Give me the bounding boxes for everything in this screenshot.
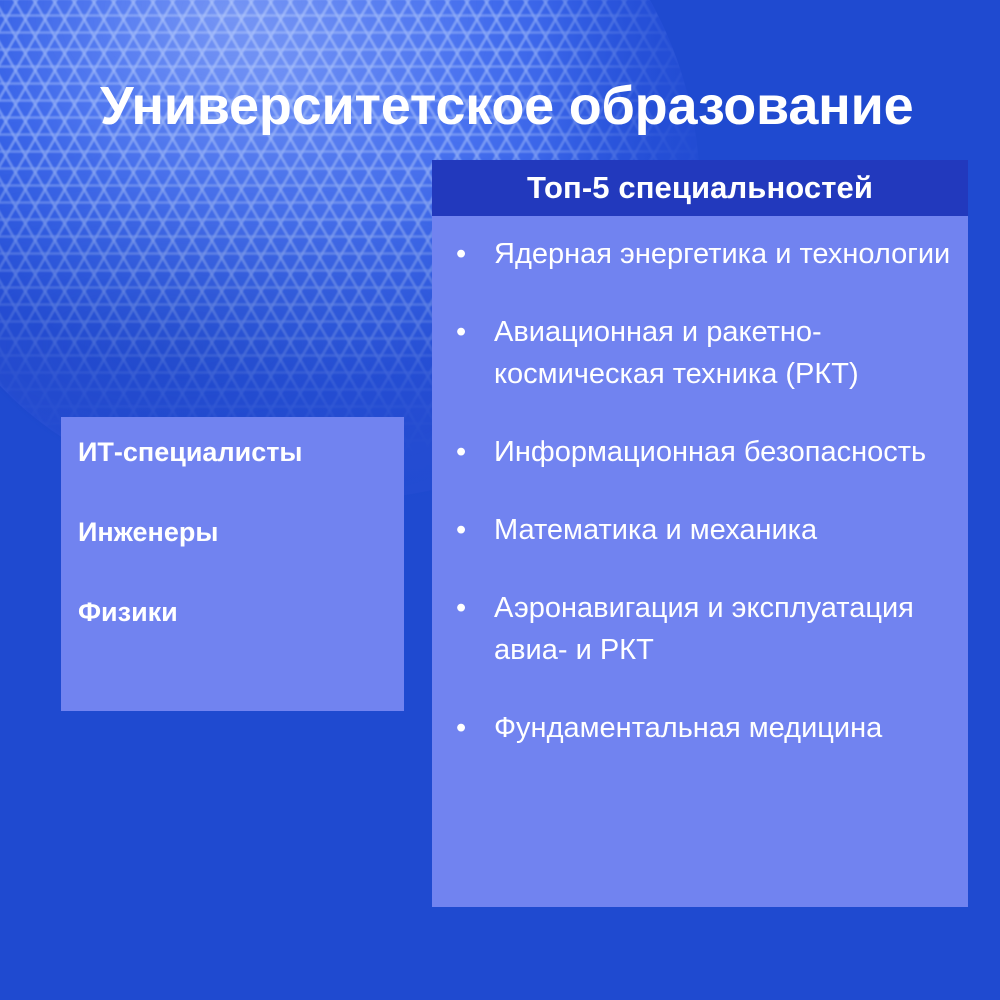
bullet-icon: • [454, 509, 494, 551]
list-item-label: Авиационная и ракетно-космическая техник… [494, 311, 954, 395]
list-item: • Фундаментальная медицина [454, 707, 954, 749]
list-item: • Информационная безопасность [454, 431, 954, 473]
list-item-label: Математика и механика [494, 509, 954, 551]
bullet-icon: • [454, 587, 494, 629]
page-title: Университетское образование [100, 78, 920, 135]
left-panel-item-it-specialists: ИТ-специалисты [78, 436, 384, 470]
list-item: • Аэронавигация и эксплуатация авиа- и Р… [454, 587, 954, 671]
left-roles-panel: ИТ-специалисты Инженеры Физики [61, 417, 404, 711]
left-panel-item-physicists: Физики [78, 596, 384, 630]
bullet-icon: • [454, 311, 494, 353]
list-item-label: Аэронавигация и эксплуатация авиа- и РКТ [494, 587, 954, 671]
left-panel-item-engineers: Инженеры [78, 516, 384, 550]
top-specialties-list: • Ядерная энергетика и технологии • Авиа… [432, 216, 968, 907]
top-specialties-panel: Топ-5 специальностей • Ядерная энергетик… [432, 160, 968, 907]
list-item-label: Ядерная энергетика и технологии [494, 233, 954, 275]
bullet-icon: • [454, 233, 494, 275]
bullet-icon: • [454, 707, 494, 749]
bullet-icon: • [454, 431, 494, 473]
list-item: • Математика и механика [454, 509, 954, 551]
list-item-label: Информационная безопасность [494, 431, 954, 473]
list-item: • Авиационная и ракетно-космическая техн… [454, 311, 954, 395]
top-specialties-header: Топ-5 специальностей [432, 160, 968, 216]
list-item-label: Фундаментальная медицина [494, 707, 954, 749]
list-item: • Ядерная энергетика и технологии [454, 233, 954, 275]
slide-canvas: Университетское образование ИТ-специалис… [0, 0, 1000, 1000]
top-specialties-header-title: Топ-5 специальностей [527, 170, 873, 206]
